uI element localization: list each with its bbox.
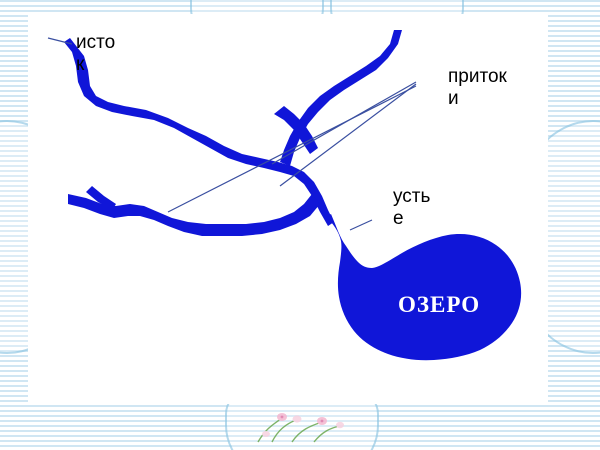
leader-line-mouth [350,220,372,230]
slide: исто к приток и усть е ОЗЕРО [0,0,600,450]
label-mouth: усть е [393,186,459,230]
leader-line-tributary-3 [168,86,416,212]
lake-shape [326,214,521,360]
diagram-canvas: исто к приток и усть е ОЗЕРО [28,14,548,404]
label-lake: ОЗЕРО [398,292,480,318]
label-tributaries: приток и [448,66,548,110]
flower-decoration-icon [252,398,348,444]
label-source: исто к [76,32,138,76]
